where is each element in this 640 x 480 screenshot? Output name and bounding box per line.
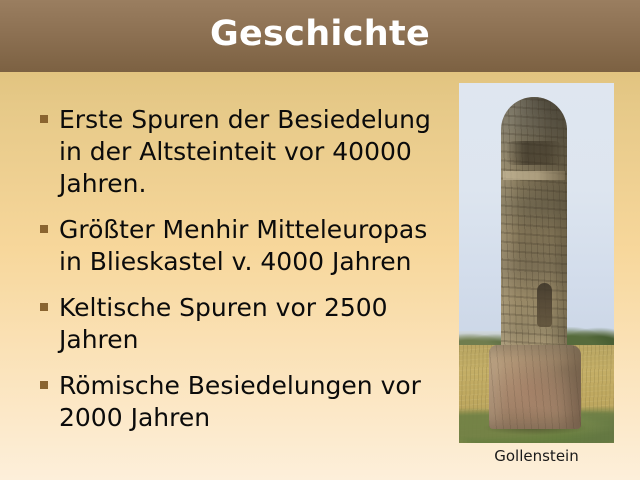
bullet-item-text: Erste Spuren der Besiedelung in der Alts… — [59, 105, 431, 198]
presentation-slide: Geschichte Erste Spuren der Besiedelung … — [0, 0, 640, 480]
bullet-item: Römische Besiedelungen vor 2000 Jahren — [34, 370, 454, 434]
photo-menhir-cleft — [507, 141, 561, 165]
photo-menhir-weathering-band — [503, 171, 565, 180]
bullet-item-text: Keltische Spuren vor 2500 Jahren — [59, 293, 388, 354]
gollenstein-photo — [459, 83, 614, 443]
photo-menhir-base-texture — [489, 345, 581, 429]
bullet-square-icon — [40, 303, 48, 311]
bullet-square-icon — [40, 225, 48, 233]
bullet-item: Erste Spuren der Besiedelung in der Alts… — [34, 104, 454, 200]
bullet-item: Keltische Spuren vor 2500 Jahren — [34, 292, 454, 356]
slide-title-bar: Geschichte — [0, 0, 640, 72]
photo-caption: Gollenstein — [459, 447, 614, 465]
slide-body-bullet-list: Erste Spuren der Besiedelung in der Alts… — [34, 104, 454, 448]
photo-menhir-niche — [537, 283, 552, 327]
bullet-square-icon — [40, 115, 48, 123]
bullet-item-text: Römische Besiedelungen vor 2000 Jahren — [59, 371, 421, 432]
bullet-square-icon — [40, 381, 48, 389]
bullet-item-text: Größter Menhir Mitteleuropas in Blieskas… — [59, 215, 427, 276]
slide-title: Geschichte — [0, 13, 640, 55]
bullet-item: Größter Menhir Mitteleuropas in Blieskas… — [34, 214, 454, 278]
